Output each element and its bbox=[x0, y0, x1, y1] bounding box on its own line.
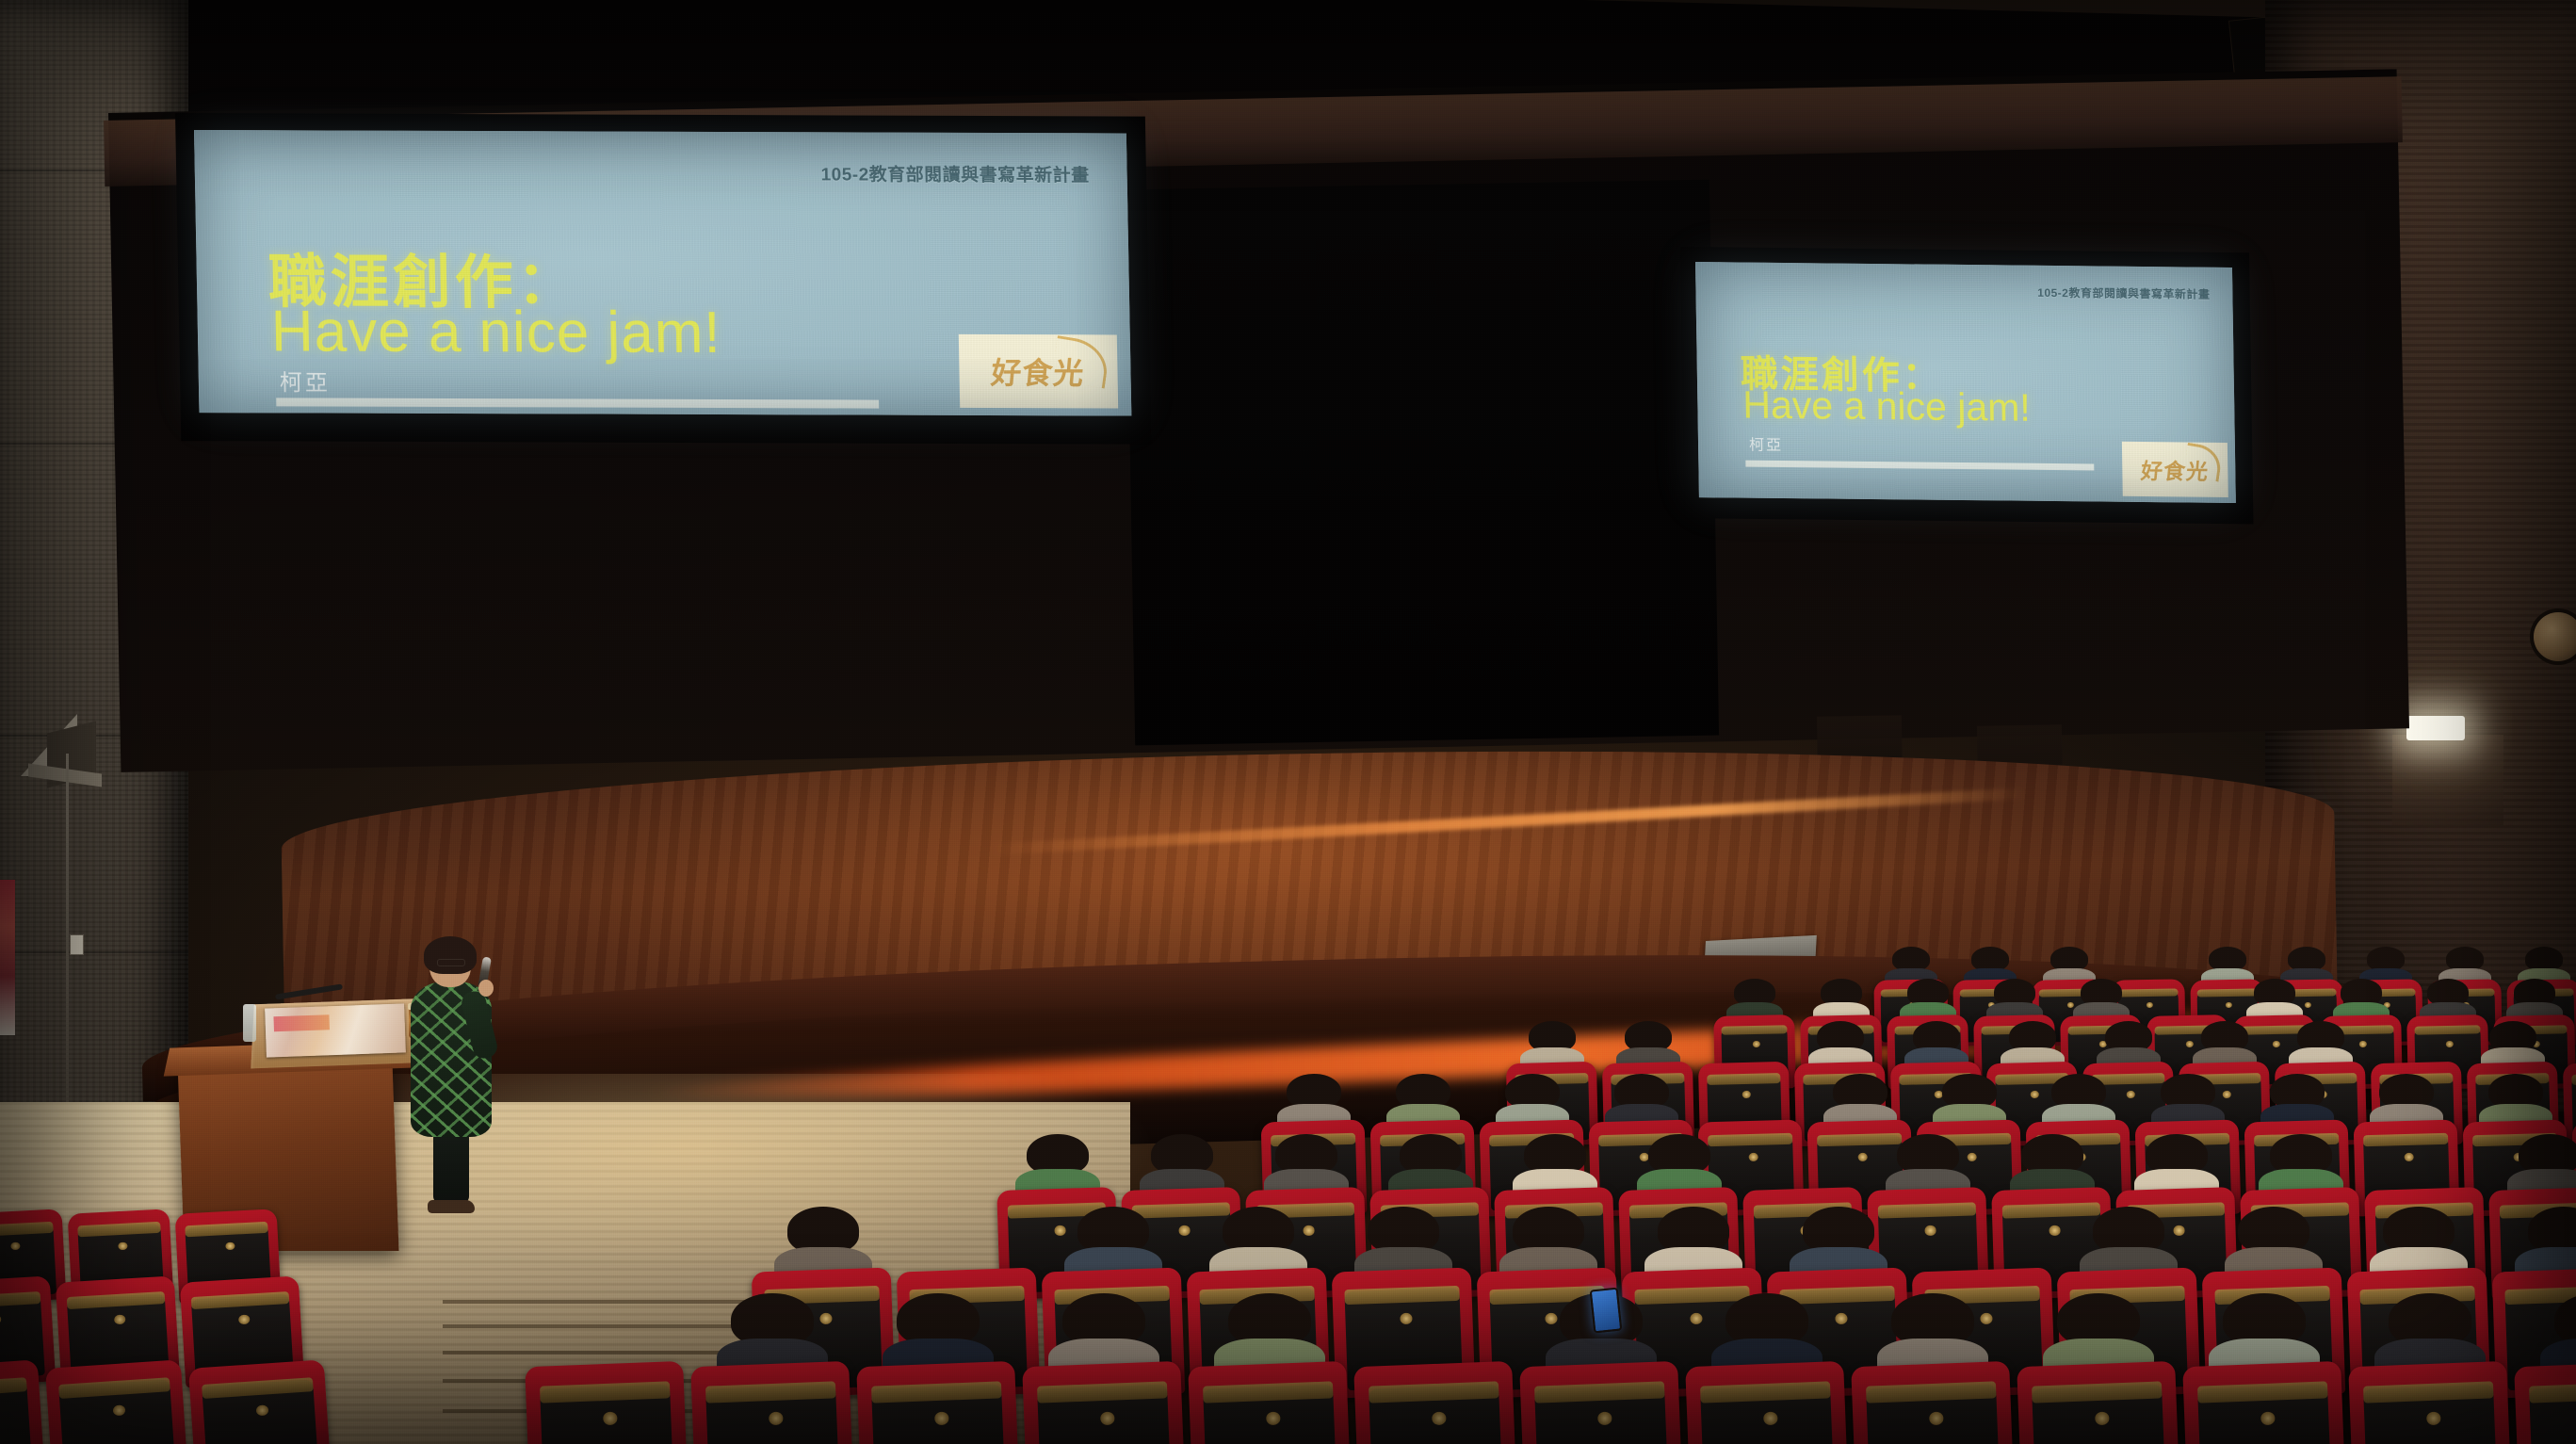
presenter bbox=[396, 942, 509, 1215]
seat-stud-icon bbox=[1925, 1225, 1936, 1236]
seat-brass-rail bbox=[2529, 1381, 2576, 1403]
presenter-legs bbox=[433, 1130, 469, 1204]
seat-stud-icon bbox=[1304, 1225, 1315, 1236]
seat-stud-icon bbox=[1400, 1312, 1413, 1324]
slide-brand-logo: 好食光 bbox=[959, 334, 1118, 409]
seat-stud-icon bbox=[2359, 1040, 2367, 1046]
wall-light-switch[interactable] bbox=[70, 934, 84, 955]
slide-title-english: Have a nice jam! bbox=[270, 298, 721, 366]
logo-swoosh-icon bbox=[1051, 335, 1110, 389]
seat-stud-icon bbox=[2273, 1040, 2280, 1046]
slide-kicker-text: 105-2教育部閱讀與書寫革新計畫 bbox=[820, 160, 1090, 187]
auditorium-seat[interactable] bbox=[1188, 1361, 1352, 1444]
seat-stud-icon bbox=[1835, 1312, 1848, 1324]
auditorium-seat[interactable] bbox=[188, 1359, 332, 1444]
auditorium-seat[interactable] bbox=[2514, 1361, 2576, 1444]
seat-brass-rail bbox=[1707, 1073, 1781, 1084]
slide-author-name: 柯亞 bbox=[1749, 432, 1783, 455]
seat-stud-icon bbox=[819, 1312, 833, 1324]
seat-stud-icon bbox=[118, 1241, 127, 1250]
auditorium-seat[interactable] bbox=[2017, 1361, 2180, 1444]
seat-stud-icon bbox=[2223, 1091, 2231, 1098]
seat-stud-icon bbox=[1935, 1091, 1943, 1098]
wall-light-fixture bbox=[2406, 716, 2465, 740]
seat-stud-icon bbox=[769, 1412, 784, 1425]
seat-stud-icon bbox=[2031, 1091, 2039, 1098]
slide-title-english: Have a nice jam! bbox=[1742, 383, 2031, 430]
auditorium-seat[interactable] bbox=[525, 1361, 689, 1444]
main-projection-screen[interactable]: 105-2教育部閱讀與書寫革新計畫 職涯創作： Have a nice jam!… bbox=[194, 130, 1131, 416]
seat-stud-icon bbox=[1980, 1312, 1993, 1324]
seat-brass-rail bbox=[1708, 1133, 1792, 1147]
wall-banner bbox=[0, 880, 15, 1035]
auditorium-seat[interactable] bbox=[1851, 1361, 2015, 1444]
seat-stud-icon bbox=[2174, 1225, 2185, 1236]
seat-stud-icon bbox=[934, 1412, 949, 1425]
display-books bbox=[265, 1003, 406, 1057]
auditorium-seat[interactable] bbox=[2182, 1361, 2346, 1444]
seat-brass-rail bbox=[2363, 1133, 2448, 1147]
audience-smartphone bbox=[1590, 1288, 1623, 1334]
auditorium-seat[interactable] bbox=[856, 1361, 1020, 1444]
presenter-hand bbox=[478, 980, 494, 997]
seat-stud-icon bbox=[10, 1241, 20, 1250]
logo-swoosh-icon bbox=[2183, 443, 2224, 482]
slide-kicker-text: 105-2教育部閱讀與書寫革新計畫 bbox=[2037, 284, 2210, 302]
seat-stud-icon bbox=[1748, 1153, 1758, 1161]
seat-brass-rail bbox=[2571, 1073, 2576, 1084]
seat-brass-rail bbox=[1817, 1133, 1902, 1147]
wall-clock-icon bbox=[2534, 612, 2576, 661]
auditorium-seat[interactable] bbox=[1685, 1361, 1849, 1444]
presenter-shoes bbox=[428, 1200, 475, 1213]
seat-stud-icon bbox=[2127, 1091, 2135, 1098]
auditorium-seat[interactable] bbox=[45, 1359, 188, 1444]
seat-stud-icon bbox=[1753, 1040, 1760, 1046]
auditorium-photo: 105-2教育部閱讀與書寫革新計畫 職涯創作： Have a nice jam!… bbox=[0, 0, 2576, 1444]
seat-brass-rail bbox=[1721, 1025, 1788, 1035]
water-bottle bbox=[243, 1004, 256, 1042]
seat-stud-icon bbox=[2426, 1412, 2441, 1425]
glasses-icon bbox=[437, 959, 465, 966]
auditorium-seat[interactable] bbox=[1022, 1361, 1186, 1444]
center-black-curtain bbox=[1126, 180, 1719, 746]
seat-stud-icon bbox=[1929, 1412, 1944, 1425]
seat-stud-icon bbox=[1266, 1412, 1281, 1425]
secondary-projection-screen[interactable]: 105-2教育部閱讀與書寫革新計畫 職涯創作： Have a nice jam!… bbox=[1695, 262, 2236, 503]
wall-light-housing bbox=[2392, 735, 2503, 825]
slide-brand-logo: 好食光 bbox=[2122, 442, 2228, 497]
seat-stud-icon bbox=[1432, 1412, 1447, 1425]
seat-stud-icon bbox=[2446, 1040, 2454, 1046]
seat-brass-rail bbox=[2414, 1025, 2481, 1035]
seat-stud-icon bbox=[1857, 1153, 1867, 1161]
seat-stud-icon bbox=[1763, 1412, 1778, 1425]
seat-stud-icon bbox=[1742, 1091, 1751, 1098]
seat-stud-icon bbox=[1639, 1153, 1648, 1161]
seat-stud-icon bbox=[2186, 1040, 2194, 1046]
seat-stud-icon bbox=[225, 1241, 235, 1250]
seat-brass-rail bbox=[2197, 988, 2258, 998]
seat-stud-icon bbox=[2049, 1225, 2061, 1236]
seat-stud-icon bbox=[1055, 1225, 1066, 1236]
seat-stud-icon bbox=[1100, 1412, 1115, 1425]
seat-stud-icon bbox=[603, 1412, 618, 1425]
auditorium-seat[interactable] bbox=[690, 1361, 854, 1444]
seat-stud-icon bbox=[2095, 1412, 2110, 1425]
seat-brass-rail bbox=[2118, 988, 2179, 998]
seat-stud-icon bbox=[1179, 1225, 1191, 1236]
seat-stud-icon bbox=[1690, 1312, 1703, 1324]
auditorium-seat[interactable] bbox=[1519, 1361, 1683, 1444]
seat-stud-icon bbox=[1967, 1153, 1976, 1161]
seat-stud-icon bbox=[1545, 1312, 1558, 1324]
presenter-hair bbox=[424, 936, 477, 974]
auditorium-seat[interactable] bbox=[1353, 1361, 1517, 1444]
seat-stud-icon bbox=[2404, 1153, 2413, 1161]
slide-author-name: 柯亞 bbox=[280, 364, 332, 397]
auditorium-seat[interactable] bbox=[2348, 1361, 2512, 1444]
seat-stud-icon bbox=[2260, 1412, 2276, 1425]
seat-stud-icon bbox=[1597, 1412, 1612, 1425]
